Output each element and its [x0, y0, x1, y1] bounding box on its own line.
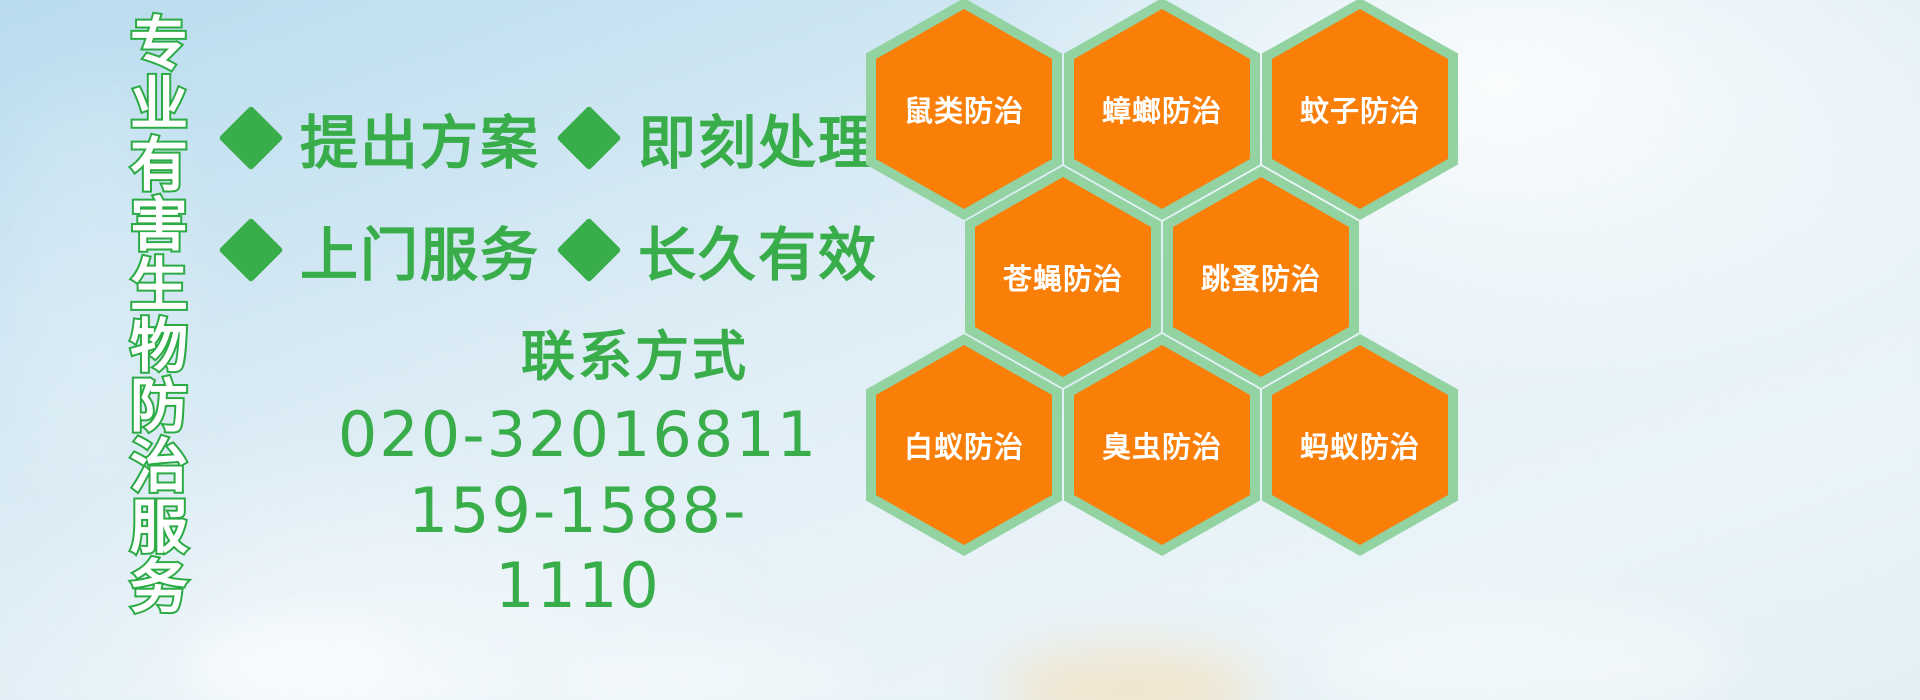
service-label: 蟑螂防治	[1102, 88, 1222, 130]
service-label: 蚊子防治	[1300, 88, 1420, 130]
vertical-headline-char: 专	[130, 14, 188, 74]
vertical-headline-char: 治	[130, 436, 188, 496]
hex-inner: 鼠类防治	[876, 9, 1052, 209]
contact-title: 联系方式	[450, 312, 820, 391]
service-label: 跳蚤防治	[1201, 256, 1321, 298]
vertical-headline-char: 有	[130, 135, 188, 195]
background-blob-1	[180, 620, 400, 700]
vertical-headline-char: 物	[130, 316, 188, 376]
feature-item: 长久有效	[566, 208, 878, 292]
service-label: 臭虫防治	[1102, 424, 1222, 466]
vertical-headline-char: 害	[130, 195, 188, 255]
diamond-icon	[556, 217, 621, 282]
vertical-headline-char: 生	[130, 255, 188, 315]
vertical-headline-char: 业	[130, 74, 188, 134]
service-honeycomb: 鼠类防治 蟑螂防治 蚊子防治 苍蝇防治 跳蚤防治 白蚁防治 臭虫防治 蚂蚁防治	[852, 0, 1452, 554]
vertical-headline-char: 务	[130, 557, 188, 617]
diamond-icon	[218, 217, 283, 282]
vertical-headline-char: 防	[130, 376, 188, 436]
background-blob-2	[560, 640, 860, 700]
diamond-icon	[218, 105, 283, 170]
background-blob-3	[1000, 650, 1260, 700]
contact-block: 联系方式 020-32016811 159-1588-1110	[300, 312, 820, 624]
phone-number-secondary[interactable]: 159-1588-1110	[336, 473, 820, 624]
hex-inner: 白蚁防治	[876, 345, 1052, 545]
hex-inner: 臭虫防治	[1074, 345, 1250, 545]
feature-row: 上门服务 长久有效	[228, 194, 868, 306]
hex-inner: 跳蚤防治	[1173, 177, 1349, 377]
feature-item: 上门服务	[228, 208, 540, 292]
feature-item: 提出方案	[228, 96, 540, 180]
feature-label: 提出方案	[300, 96, 540, 180]
background-blob-4	[1320, 600, 1740, 700]
hex-inner: 蟑螂防治	[1074, 9, 1250, 209]
vertical-headline: 专 业 有 害 生 物 防 治 服 务	[110, 14, 208, 554]
hex-inner: 蚂蚁防治	[1272, 345, 1448, 545]
service-label: 蚂蚁防治	[1300, 424, 1420, 466]
hex-inner: 苍蝇防治	[975, 177, 1151, 377]
diamond-icon	[556, 105, 621, 170]
feature-row: 提出方案 即刻处理	[228, 82, 868, 194]
phone-number-primary[interactable]: 020-32016811	[336, 397, 820, 473]
feature-label: 长久有效	[638, 208, 878, 292]
feature-label: 即刻处理	[638, 96, 878, 180]
service-label: 鼠类防治	[904, 88, 1024, 130]
feature-list: 提出方案 即刻处理 上门服务 长久有效	[228, 82, 868, 306]
vertical-headline-char: 服	[130, 497, 188, 557]
service-label: 苍蝇防治	[1003, 256, 1123, 298]
hex-inner: 蚊子防治	[1272, 9, 1448, 209]
feature-item: 即刻处理	[566, 96, 878, 180]
service-label: 白蚁防治	[904, 424, 1024, 466]
feature-label: 上门服务	[300, 208, 540, 292]
